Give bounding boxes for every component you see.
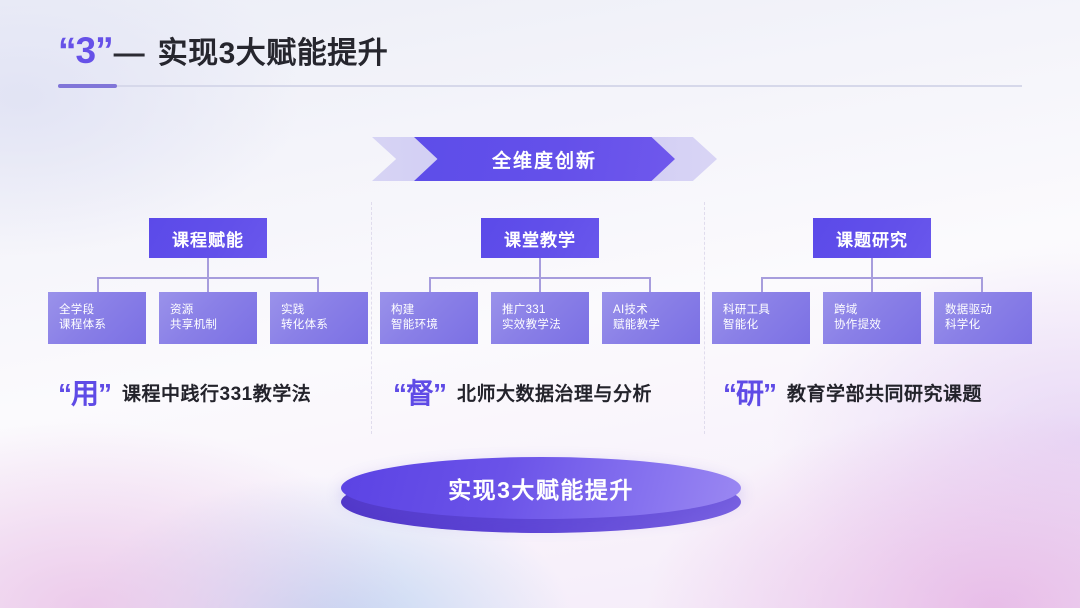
connector-drop-1 bbox=[761, 277, 763, 292]
caption-key: “研” bbox=[723, 372, 776, 412]
connector-lines bbox=[761, 258, 983, 292]
connector-drop-1 bbox=[429, 277, 431, 292]
connector-drop-3 bbox=[649, 277, 651, 292]
sub-box-row: 全学段 课程体系 资源 共享机制 实践 转化体系 bbox=[48, 292, 368, 344]
sub-box-line1: 数据驱动 bbox=[945, 303, 1032, 318]
sub-box-line1: 资源 bbox=[170, 303, 257, 318]
title-text: 实现3大赋能提升 bbox=[158, 28, 389, 72]
sub-box-line2: 科学化 bbox=[945, 318, 1032, 333]
connector-drop-3 bbox=[317, 277, 319, 292]
sub-box-line1: 实践 bbox=[281, 303, 368, 318]
connector-stem bbox=[539, 258, 541, 278]
banner-inner-chevron: 全维度创新 bbox=[414, 137, 675, 181]
sub-box-line2: 实效教学法 bbox=[502, 318, 589, 333]
connector-drop-3 bbox=[981, 277, 983, 292]
slide-canvas: “ 3 ” — 实现3大赋能提升 全维度创新 课程赋能 bbox=[0, 0, 1080, 608]
sub-box-row: 科研工具 智能化 跨域 协作提效 数据驱动 科学化 bbox=[712, 292, 1032, 344]
column-header-box[interactable]: 课程赋能 bbox=[149, 218, 267, 258]
title-divider bbox=[58, 85, 1022, 87]
sub-box-line1: 跨域 bbox=[834, 303, 921, 318]
sub-box-line2: 赋能教学 bbox=[613, 318, 700, 333]
sub-box-line2: 智能环境 bbox=[391, 318, 478, 333]
title-quote-close: ” bbox=[95, 30, 113, 72]
sub-box-row: 构建 智能环境 推广331 实效教学法 AI技术 赋能教学 bbox=[380, 292, 700, 344]
disc-top-face: 实现3大赋能提升 bbox=[341, 457, 741, 519]
sub-box-line1: 构建 bbox=[391, 303, 478, 318]
title-number: 3 bbox=[76, 30, 96, 72]
sub-box-line1: AI技术 bbox=[613, 303, 700, 318]
caption-key: “用” bbox=[58, 372, 111, 412]
sub-box-line2: 课程体系 bbox=[59, 318, 146, 333]
connector-drop-2 bbox=[871, 277, 873, 292]
caption-key: “督” bbox=[393, 372, 446, 412]
connector-drop-2 bbox=[539, 277, 541, 292]
caption-use: “用” 课程中践行331教学法 bbox=[58, 372, 311, 412]
caption-text: 北师大数据治理与分析 bbox=[457, 379, 652, 406]
column-header-label: 课题研究 bbox=[836, 226, 908, 251]
footer-disc: 实现3大赋能提升 bbox=[341, 457, 741, 541]
title-dash: — bbox=[114, 35, 145, 71]
sub-box-line2: 智能化 bbox=[723, 318, 810, 333]
connector-stem bbox=[871, 258, 873, 278]
sub-box-line1: 推广331 bbox=[502, 303, 589, 318]
caption-research: “研” 教育学部共同研究课题 bbox=[723, 372, 982, 412]
sub-box[interactable]: 资源 共享机制 bbox=[159, 292, 257, 344]
sub-box[interactable]: 实践 转化体系 bbox=[270, 292, 368, 344]
sub-box[interactable]: 推广331 实效教学法 bbox=[491, 292, 589, 344]
column-header-label: 课程赋能 bbox=[172, 226, 244, 251]
connector-lines bbox=[97, 258, 319, 292]
page-title: “ 3 ” — 实现3大赋能提升 bbox=[58, 28, 388, 72]
sub-box[interactable]: 数据驱动 科学化 bbox=[934, 292, 1032, 344]
connector-drop-1 bbox=[97, 277, 99, 292]
caption-text: 课程中践行331教学法 bbox=[122, 379, 311, 406]
sub-box[interactable]: 科研工具 智能化 bbox=[712, 292, 810, 344]
sub-box-line1: 全学段 bbox=[59, 303, 146, 318]
title-quote-open: “ bbox=[58, 30, 76, 72]
sub-box-line1: 科研工具 bbox=[723, 303, 810, 318]
column-header-box[interactable]: 课堂教学 bbox=[481, 218, 599, 258]
sub-box-line2: 共享机制 bbox=[170, 318, 257, 333]
sub-box-line2: 转化体系 bbox=[281, 318, 368, 333]
caption-supervise: “督” 北师大数据治理与分析 bbox=[393, 372, 652, 412]
caption-text: 教育学部共同研究课题 bbox=[787, 379, 982, 406]
sub-box-line2: 协作提效 bbox=[834, 318, 921, 333]
banner-label: 全维度创新 bbox=[492, 146, 597, 173]
sub-box[interactable]: 构建 智能环境 bbox=[380, 292, 478, 344]
banner-chevron: 全维度创新 bbox=[372, 137, 717, 181]
connector-stem bbox=[207, 258, 209, 278]
sub-box[interactable]: 跨域 协作提效 bbox=[823, 292, 921, 344]
title-divider-accent bbox=[58, 84, 117, 88]
connector-drop-2 bbox=[207, 277, 209, 292]
column-header-box[interactable]: 课题研究 bbox=[813, 218, 931, 258]
column-header-label: 课堂教学 bbox=[504, 226, 576, 251]
sub-box[interactable]: 全学段 课程体系 bbox=[48, 292, 146, 344]
connector-lines bbox=[429, 258, 651, 292]
sub-box[interactable]: AI技术 赋能教学 bbox=[602, 292, 700, 344]
footer-label: 实现3大赋能提升 bbox=[448, 471, 634, 505]
